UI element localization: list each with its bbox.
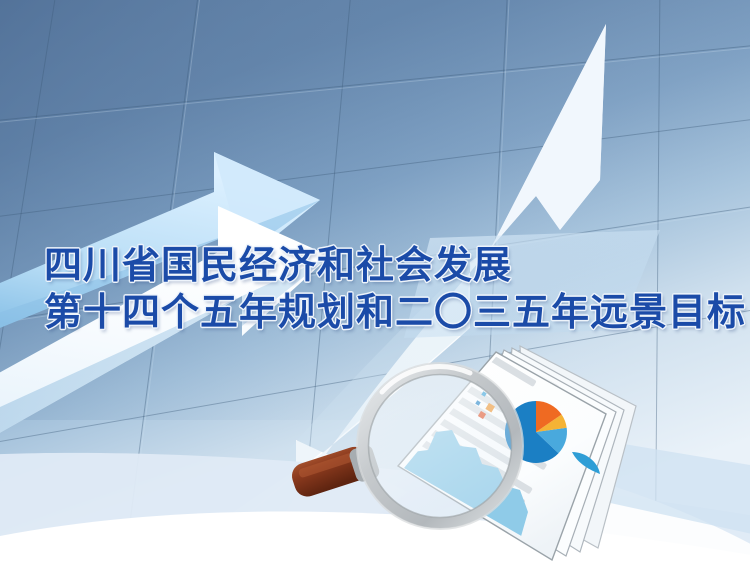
poster-root: 四川省国民经济和社会发展 第十四个五年规划和二〇三五年远景目标 — [0, 0, 750, 586]
magnifier — [289, 363, 523, 529]
document-stack-artwork — [0, 0, 750, 586]
